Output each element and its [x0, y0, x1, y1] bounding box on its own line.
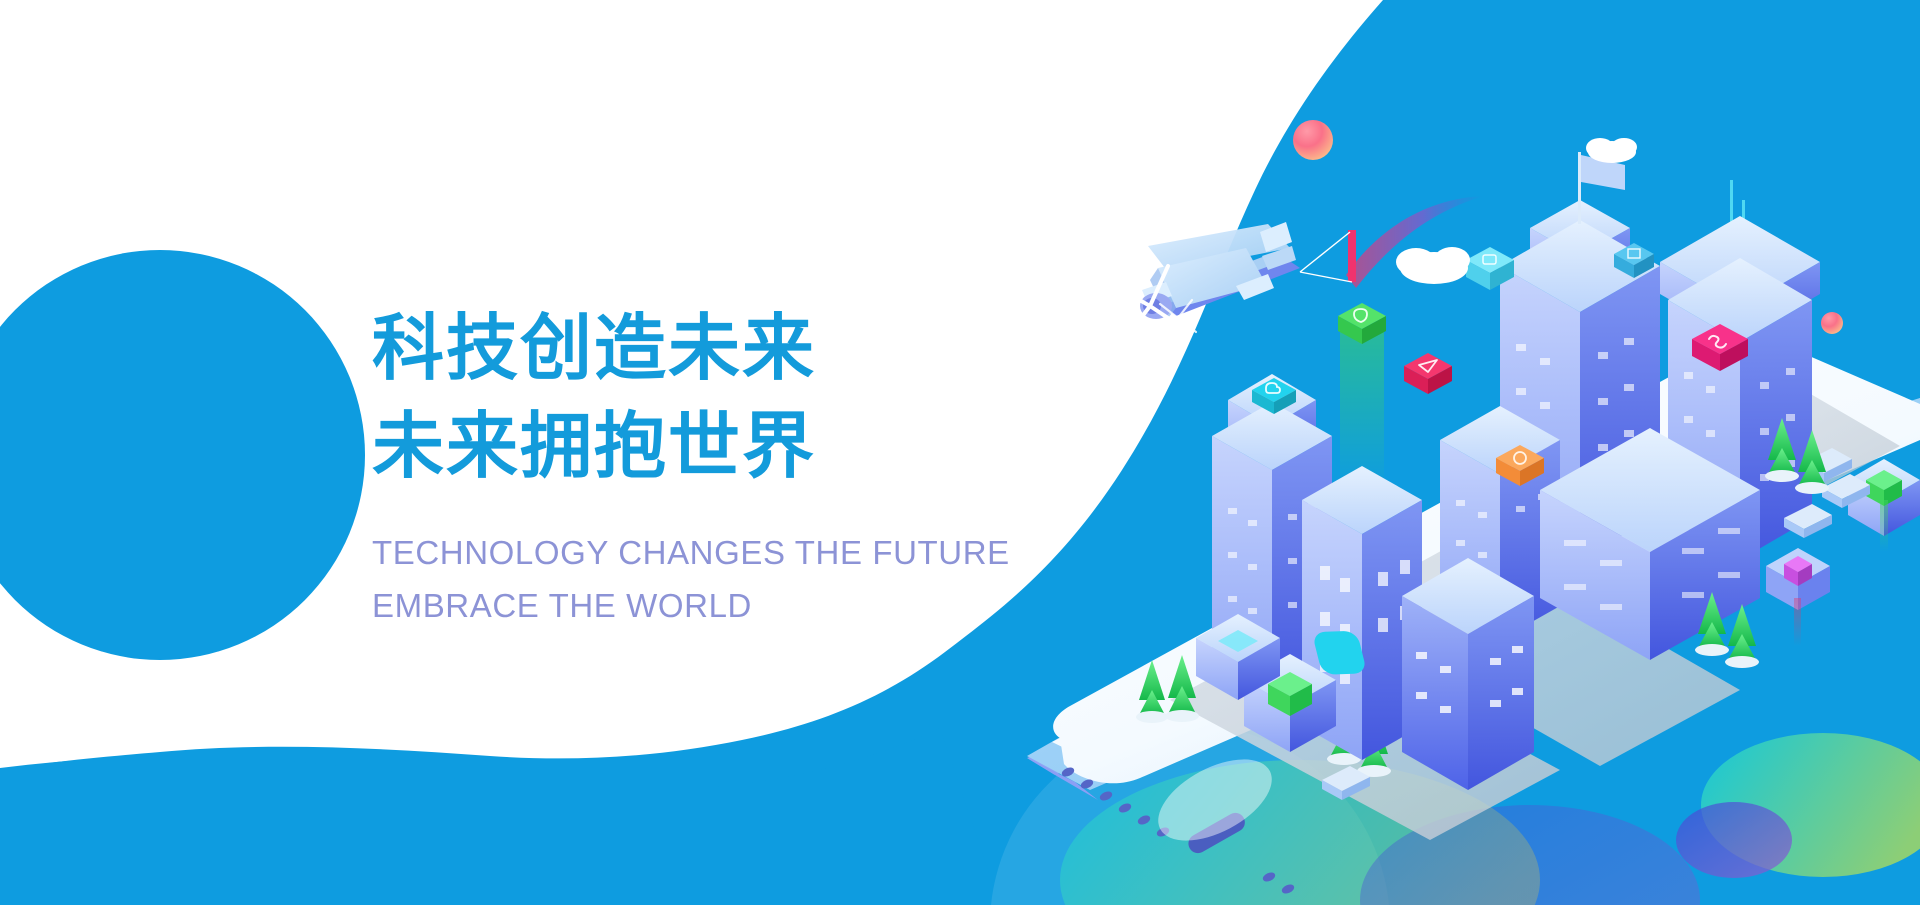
hero-text-block: 科技创造未来 未来拥抱世界 TECHNOLOGY CHANGES THE FUT…: [372, 300, 1072, 633]
phone-speaker-grille-2: [1261, 871, 1295, 896]
flag-pole: [1578, 152, 1581, 224]
subhead-line-1: TECHNOLOGY CHANGES THE FUTURE: [372, 526, 1072, 579]
hero-banner: 科技创造未来 未来拥抱世界 TECHNOLOGY CHANGES THE FUT…: [0, 0, 1920, 905]
subhead-line-2: EMBRACE THE WORLD: [372, 579, 1072, 632]
plane-banner-flag: [1348, 230, 1356, 282]
cloud: [1095, 379, 1141, 402]
cloud: [1396, 247, 1470, 284]
plane-strings: [1300, 232, 1352, 282]
headline-line-1: 科技创造未来: [372, 300, 1072, 398]
headline-line-2: 未来拥抱世界: [372, 398, 1072, 496]
building-right-pad: [1848, 459, 1920, 552]
cube-marker-purple: [1766, 548, 1830, 646]
app-icon-send: [1404, 353, 1452, 394]
building-front-tower: [1402, 558, 1534, 790]
